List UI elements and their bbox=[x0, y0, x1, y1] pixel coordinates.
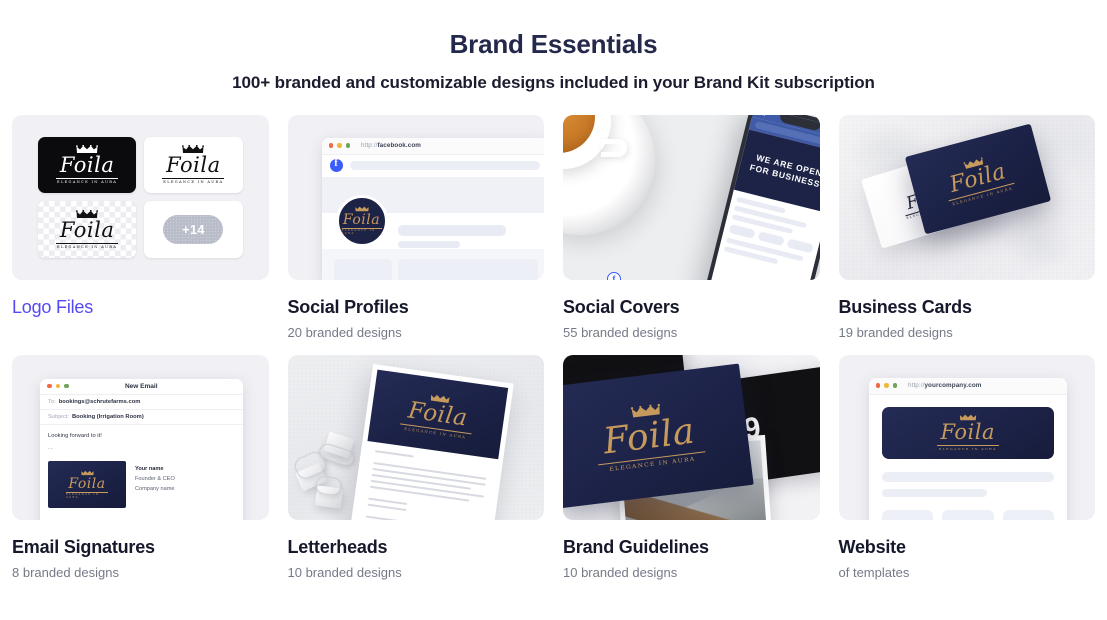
phone-mockup: 9:41 ▮▮▮ WE ARE OPEN FOR BUSINESS! bbox=[703, 115, 820, 280]
card-title-logo-files[interactable]: Logo Files bbox=[12, 297, 269, 318]
brand-essentials-page: Brand Essentials 100+ branded and custom… bbox=[0, 0, 1107, 620]
guideline-card-navy: Foila Elegance in Aura bbox=[563, 363, 754, 508]
card-subtitle-social-covers: 55 branded designs bbox=[563, 325, 820, 340]
signature-name: Your name bbox=[135, 464, 175, 474]
thumbnail-website[interactable]: http://yourcompany.com Foila Elegance in… bbox=[839, 355, 1096, 520]
window-maximize-dot bbox=[346, 143, 351, 148]
feed-chip bbox=[728, 223, 755, 238]
page-header: Brand Essentials 100+ branded and custom… bbox=[0, 0, 1107, 93]
window-minimize-dot bbox=[884, 383, 889, 388]
window-maximize-dot bbox=[893, 383, 898, 388]
email-body-text: Looking forward to it! bbox=[48, 433, 235, 439]
thumbnail-logo-files[interactable]: Foila Elegance in Aura Foil bbox=[12, 115, 269, 280]
foila-logo-letterhead: Foila Elegance in Aura bbox=[399, 389, 476, 439]
card-title-email-signatures[interactable]: Email Signatures bbox=[12, 537, 269, 558]
card-title-letterheads[interactable]: Letterheads bbox=[288, 537, 545, 558]
profile-meta-placeholder bbox=[398, 241, 460, 248]
logo-tile-grid: Foila Elegance in Aura Foil bbox=[38, 137, 243, 258]
website-headline-placeholder bbox=[882, 472, 1055, 482]
email-subject-label: Subject: bbox=[48, 414, 69, 420]
profile-feed-block bbox=[398, 259, 539, 280]
card-subtitle-business-cards: 19 branded designs bbox=[839, 325, 1096, 340]
card-title-social-profiles[interactable]: Social Profiles bbox=[288, 297, 545, 318]
card-logo-files[interactable]: Foila Elegance in Aura Foil bbox=[12, 115, 269, 340]
thumbnail-letterheads[interactable]: Foila Elegance in Aura bbox=[288, 355, 545, 520]
email-subject-value: Booking (Irrigation Room) bbox=[72, 414, 144, 420]
facebook-badge-icon: f bbox=[607, 272, 621, 280]
email-to-value: bookings@schrutefarms.com bbox=[59, 399, 141, 405]
card-letterheads[interactable]: Foila Elegance in Aura bbox=[288, 355, 545, 580]
website-card bbox=[882, 510, 934, 520]
cup-handle bbox=[601, 139, 627, 157]
card-email-signatures[interactable]: New Email To: bookings@schrutefarms.com … bbox=[12, 355, 269, 580]
page-title: Brand Essentials bbox=[0, 30, 1107, 59]
website-hero-banner: Foila Elegance in Aura bbox=[882, 407, 1055, 459]
email-window-title: New Email bbox=[40, 383, 243, 390]
foila-logo-dark: Foila Elegance in Aura bbox=[162, 145, 224, 185]
browser-titlebar: http://yourcompany.com bbox=[869, 378, 1068, 395]
feed-chip bbox=[757, 231, 784, 246]
letterhead-paper: Foila Elegance in Aura bbox=[348, 364, 514, 520]
binder-clip-icon bbox=[314, 485, 343, 508]
card-subtitle-letterheads: 10 branded designs bbox=[288, 565, 545, 580]
logo-tile-transparent[interactable]: Foila Elegance in Aura bbox=[38, 201, 136, 258]
thumbnail-social-profiles[interactable]: http://facebook.com bbox=[288, 115, 545, 280]
email-window-mockup: New Email To: bookings@schrutefarms.com … bbox=[40, 379, 243, 520]
website-card bbox=[1003, 510, 1055, 520]
feed-chip bbox=[786, 238, 813, 253]
card-social-profiles[interactable]: http://facebook.com bbox=[288, 115, 545, 340]
browser-url: http://facebook.com bbox=[361, 142, 421, 149]
card-subtitle-brand-guidelines: 10 branded designs bbox=[563, 565, 820, 580]
email-window-titlebar: New Email bbox=[40, 379, 243, 395]
more-logos-count: +14 bbox=[182, 222, 205, 237]
foila-logo-gold: Foila Elegance in Aura bbox=[940, 151, 1016, 207]
card-title-brand-guidelines[interactable]: Brand Guidelines bbox=[563, 537, 820, 558]
phone-screen: 9:41 ▮▮▮ WE ARE OPEN FOR BUSINESS! bbox=[708, 115, 820, 280]
card-subtitle-email-signatures: 8 branded designs bbox=[12, 565, 269, 580]
browser-mockup-website: http://yourcompany.com Foila Elegance in… bbox=[869, 378, 1068, 520]
window-close-dot bbox=[329, 143, 334, 148]
card-title-business-cards[interactable]: Business Cards bbox=[839, 297, 1096, 318]
profile-name-placeholder bbox=[398, 225, 506, 236]
crown-icon bbox=[81, 470, 94, 476]
browser-url: http://yourcompany.com bbox=[908, 382, 981, 389]
window-minimize-dot bbox=[337, 143, 342, 148]
logo-tile-dark[interactable]: Foila Elegance in Aura bbox=[38, 137, 136, 194]
card-website[interactable]: http://yourcompany.com Foila Elegance in… bbox=[839, 355, 1096, 580]
signature-role: Founder & CEO bbox=[135, 474, 175, 484]
foila-logo-avatar: Foila Elegance in Aura bbox=[342, 206, 382, 235]
window-close-dot bbox=[876, 383, 881, 388]
foila-logo-guidelines: Foila Elegance in Aura bbox=[592, 398, 707, 474]
logo-tile-light[interactable]: Foila Elegance in Aura bbox=[144, 137, 242, 194]
thumbnail-brand-guidelines[interactable]: 09 Foila E bbox=[563, 355, 820, 520]
email-signature-separator: -- bbox=[48, 446, 235, 452]
email-to-label: To: bbox=[48, 399, 56, 405]
website-card bbox=[942, 510, 994, 520]
thumbnail-social-covers[interactable]: 9:41 ▮▮▮ WE ARE OPEN FOR BUSINESS! bbox=[563, 115, 820, 280]
card-business-cards[interactable]: Foila Elegance in Aura Foila Elegance in… bbox=[839, 115, 1096, 340]
foila-logo-transparent: Foila Elegance in Aura bbox=[56, 210, 118, 250]
facebook-icon bbox=[330, 159, 343, 172]
card-title-social-covers[interactable]: Social Covers bbox=[563, 297, 820, 318]
foila-logo-signature: Foila Elegance in Aura bbox=[66, 470, 108, 499]
more-logos-badge[interactable]: +14 bbox=[163, 215, 223, 244]
signature-logo-card: Foila Elegance in Aura bbox=[48, 461, 126, 508]
website-subhead-placeholder bbox=[882, 489, 987, 497]
card-subtitle-website: of templates bbox=[839, 565, 1096, 580]
browser-titlebar: http://facebook.com bbox=[322, 138, 545, 155]
profile-sidebar-block bbox=[334, 259, 392, 280]
coffee-photo-background: 9:41 ▮▮▮ WE ARE OPEN FOR BUSINESS! bbox=[563, 115, 820, 280]
card-subtitle-social-profiles: 20 branded designs bbox=[288, 325, 545, 340]
thumbnail-business-cards[interactable]: Foila Elegance in Aura Foila Elegance in… bbox=[839, 115, 1096, 280]
logo-tile-more[interactable]: +14 bbox=[144, 201, 242, 258]
thumbnail-email-signatures[interactable]: New Email To: bookings@schrutefarms.com … bbox=[12, 355, 269, 520]
foila-logo-website: Foila Elegance in Aura bbox=[937, 414, 999, 451]
signature-contact-details: Your name Founder & CEO Company name bbox=[135, 461, 175, 495]
signature-company: Company name bbox=[135, 484, 175, 494]
website-card-row bbox=[882, 510, 1055, 520]
card-social-covers[interactable]: 9:41 ▮▮▮ WE ARE OPEN FOR BUSINESS! bbox=[563, 115, 820, 340]
profile-avatar: Foila Elegance in Aura bbox=[336, 195, 388, 247]
social-cover-text: WE ARE OPEN FOR BUSINESS! bbox=[748, 151, 820, 192]
facebook-profile-body: Foila Elegance in Aura bbox=[322, 177, 545, 280]
email-subject-row: Subject: Booking (Irrigation Room) bbox=[40, 410, 243, 425]
card-brand-guidelines[interactable]: 09 Foila E bbox=[563, 355, 820, 580]
foila-logo-light: Foila Elegance in Aura bbox=[56, 145, 118, 185]
status-time: 9:41 bbox=[757, 115, 766, 117]
email-signature-block: Foila Elegance in Aura Your name Founder… bbox=[48, 461, 235, 508]
facebook-search-bar bbox=[350, 161, 541, 170]
card-title-website[interactable]: Website bbox=[839, 537, 1096, 558]
email-to-row: To: bookings@schrutefarms.com bbox=[40, 395, 243, 410]
email-body: Looking forward to it! -- Foila bbox=[40, 425, 243, 516]
page-subtitle: 100+ branded and customizable designs in… bbox=[0, 73, 1107, 93]
template-grid: Foila Elegance in Aura Foil bbox=[0, 115, 1107, 580]
facebook-navbar bbox=[322, 155, 545, 177]
browser-mockup-facebook: http://facebook.com bbox=[322, 138, 545, 280]
website-body: Foila Elegance in Aura bbox=[869, 395, 1068, 520]
